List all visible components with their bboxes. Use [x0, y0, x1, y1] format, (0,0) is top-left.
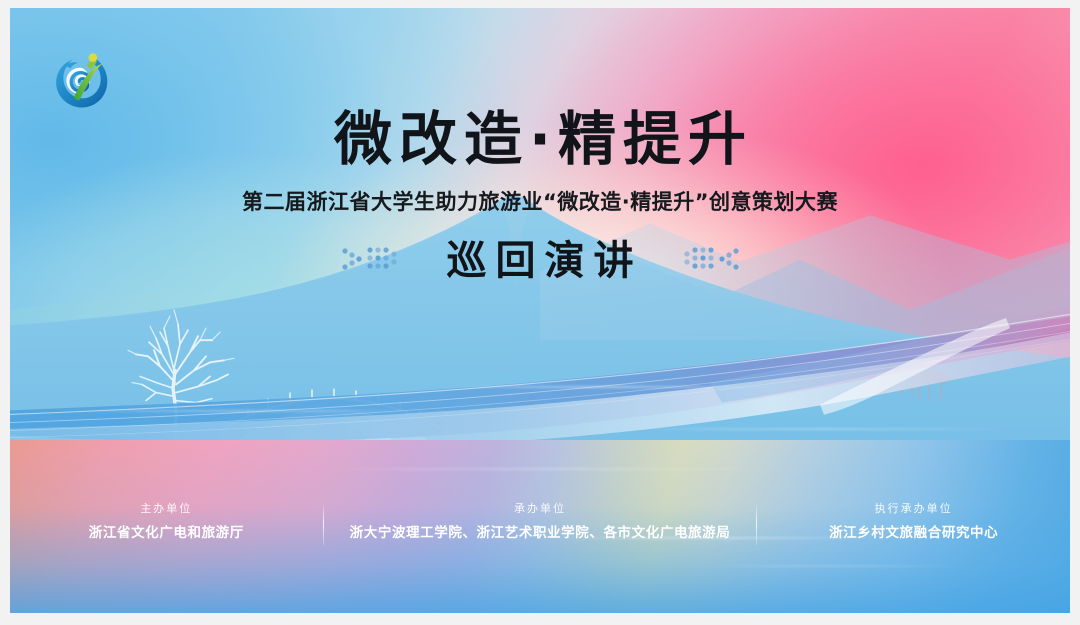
tour-title: 巡回演讲 — [438, 241, 643, 281]
credit-role: 承办单位 — [350, 503, 731, 514]
poster-canvas: 微改造·精提升 第二届浙江省大学生助力旅游业“微改造·精提升”创意策划大赛 — [10, 8, 1070, 613]
credits-row: 主办单位 浙江省文化广电和旅游厅 承办单位 浙大宁波理工学院、浙江艺术职业学院、… — [10, 503, 1070, 545]
credit-role: 执行承办单位 — [783, 503, 1044, 514]
water-streak — [455, 386, 773, 388]
credit-organizer: 主办单位 浙江省文化广电和旅游厅 — [10, 503, 323, 541]
poster-frame: 微改造·精提升 第二届浙江省大学生助力旅游业“微改造·精提升”创意策划大赛 — [0, 0, 1080, 625]
chevron-dots-right-icon — [679, 244, 741, 278]
chevron-dots-left-icon — [340, 244, 402, 278]
water-streak — [646, 428, 1006, 430]
tour-title-row: 巡回演讲 — [10, 241, 1070, 281]
credit-role: 主办单位 — [36, 503, 297, 514]
subtitle: 第二届浙江省大学生助力旅游业“微改造·精提升”创意策划大赛 — [10, 192, 1070, 213]
credit-name: 浙江省文化广电和旅游厅 — [36, 527, 297, 541]
poster-content: 微改造·精提升 第二届浙江省大学生助力旅游业“微改造·精提升”创意策划大赛 — [10, 8, 1070, 281]
main-title: 微改造·精提升 — [10, 110, 1070, 168]
credit-name: 浙大宁波理工学院、浙江艺术职业学院、各市文化广电旅游局 — [350, 527, 731, 541]
credit-name: 浙江乡村文旅融合研究中心 — [783, 527, 1044, 541]
water-streak — [328, 468, 773, 470]
water-streak — [74, 410, 413, 412]
credit-host: 承办单位 浙大宁波理工学院、浙江艺术职业学院、各市文化广电旅游局 — [324, 503, 757, 541]
credit-executive-host: 执行承办单位 浙江乡村文旅融合研究中心 — [757, 503, 1070, 541]
water-streak — [710, 565, 964, 567]
